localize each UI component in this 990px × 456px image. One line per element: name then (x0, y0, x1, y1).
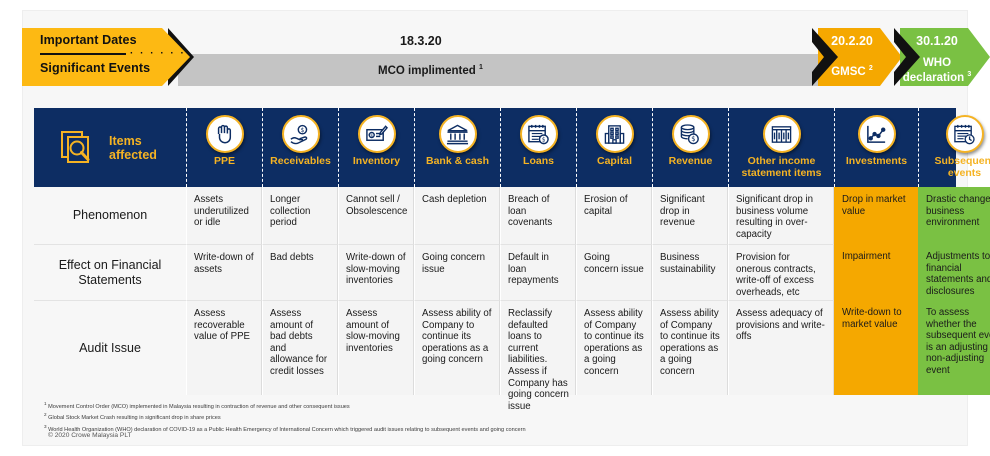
documents-search-icon (56, 126, 100, 170)
column-header-bank-cash-label: Bank & cash (424, 156, 491, 168)
timeline-mco-name-row: MCO implimented 1 (178, 54, 818, 86)
gloves-icon (206, 115, 244, 153)
timeline-mco-footnote-ref: 1 (479, 64, 483, 71)
hand-coin-icon: $ (282, 115, 320, 153)
cell-audit-subsequent-events: To assess whether the subsequent event i… (918, 300, 990, 395)
timeline-legend-label: Important Dates · · · · · · Significant … (22, 28, 190, 86)
column-header-other-income[interactable]: Other income statement items (728, 108, 834, 187)
cell-effect-loans: Default in loan repayments (500, 244, 576, 300)
cell-audit-inventory: Assess amount of slow-moving inventories (338, 300, 414, 395)
cell-phenomenon-investments: Drop in market value (834, 187, 918, 244)
ledger-books-icon (763, 115, 801, 153)
cell-audit-ppe: Assess recoverable value of PPE (186, 300, 262, 395)
timeline-mco-date-row: 18.3.20 (178, 28, 818, 54)
timeline-gmsc-date: 20.2.20 (831, 34, 873, 48)
svg-text:$: $ (301, 128, 305, 134)
cell-effect-other-income: Provision for onerous contracts, write-o… (728, 244, 834, 300)
column-header-revenue[interactable]: $ Revenue (652, 108, 728, 187)
column-header-capital[interactable]: Capital (576, 108, 652, 187)
column-header-loans[interactable]: $ Loans (500, 108, 576, 187)
bank-icon (439, 115, 477, 153)
items-affected-title-line1: Items (109, 134, 157, 148)
building-icon (596, 115, 634, 153)
impact-table: Phenomenon Assets underutilized or idle … (34, 187, 956, 395)
column-header-investments-label: Investments (844, 156, 909, 168)
timeline-gmsc-name: GMSC 2 (831, 63, 873, 78)
timeline-legend-divider (40, 53, 126, 55)
column-header-inventory-label: Inventory (351, 156, 402, 168)
table-row: Audit Issue Assess recoverable value of … (34, 300, 956, 395)
timeline-legend-significant-events: Significant Events (40, 61, 150, 75)
column-header-bank-cash[interactable]: Bank & cash (414, 108, 500, 187)
cell-effect-receivables: Bad debts (262, 244, 338, 300)
timeline-mco-date: 18.3.20 (400, 34, 442, 48)
cell-effect-ppe: Write-down of assets (186, 244, 262, 300)
cell-audit-bank-cash: Assess ability of Company to continue it… (414, 300, 500, 395)
footnote-1: 1 Movement Control Order (MCO) implement… (44, 400, 744, 411)
timeline-who-date: 30.1.20 (916, 34, 958, 48)
column-header-investments[interactable]: Investments (834, 108, 918, 187)
column-header-subsequent-events[interactable]: Subsequent events (918, 108, 990, 187)
cell-phenomenon-ppe: Assets underutilized or idle (186, 187, 262, 244)
items-affected-title-block: Items affected (34, 108, 186, 187)
cell-phenomenon-subsequent-events: Drastic change in business environment (918, 187, 990, 244)
footnote-1-marker: 1 (44, 401, 47, 406)
cell-phenomenon-capital: Erosion of capital (576, 187, 652, 244)
column-header-receivables-label: Receivables (268, 156, 333, 168)
column-header-ppe-label: PPE (212, 156, 237, 168)
column-header-ppe[interactable]: PPE (186, 108, 262, 187)
items-affected-title-line2: affected (109, 148, 157, 162)
footnote-2-text: Global Stock Market Crash resulting in s… (48, 415, 221, 421)
cell-audit-investments: Write-down to market value (834, 300, 918, 395)
column-header-inventory[interactable]: $ Inventory (338, 108, 414, 187)
timeline-gmsc-footnote-ref: 2 (869, 65, 873, 72)
footnote-3-marker: 3 (44, 424, 47, 429)
row-label-audit-issue: Audit Issue (34, 300, 186, 395)
cell-effect-revenue: Business sustainability (652, 244, 728, 300)
cell-effect-investments: Impairment (834, 244, 918, 300)
footnote-2-marker: 2 (44, 412, 47, 417)
timeline-band: 18.3.20 MCO implimented 1 20.2.20 GMSC 2… (22, 28, 968, 86)
cell-audit-receivables: Assess amount of bad debts and allowance… (262, 300, 338, 395)
timeline-who-footnote-ref: 3 (967, 71, 971, 78)
calendar-clock-icon (946, 115, 984, 153)
items-affected-header: Items affected PPE $ Receivables (34, 108, 956, 187)
timeline-legend-important-dates: Important Dates (40, 33, 137, 47)
svg-text:$: $ (542, 137, 546, 143)
footnote-2: 2 Global Stock Market Crash resulting in… (44, 411, 744, 422)
column-header-capital-label: Capital (595, 156, 634, 168)
table-row: Phenomenon Assets underutilized or idle … (34, 187, 956, 244)
line-chart-icon (858, 115, 896, 153)
column-header-receivables[interactable]: $ Receivables (262, 108, 338, 187)
cell-phenomenon-other-income: Significant drop in business volume resu… (728, 187, 834, 244)
cell-phenomenon-inventory: Cannot sell / Obsolescence (338, 187, 414, 244)
column-header-revenue-label: Revenue (667, 156, 715, 168)
timeline-segment-mco[interactable]: 18.3.20 MCO implimented 1 (178, 28, 818, 86)
cell-phenomenon-bank-cash: Cash depletion (414, 187, 500, 244)
cell-phenomenon-loans: Breach of loan covenants (500, 187, 576, 244)
cheque-pen-icon: $ (358, 115, 396, 153)
items-affected-title: Items affected (109, 134, 157, 162)
cell-effect-bank-cash: Going concern issue (414, 244, 500, 300)
coin-stack-icon: $ (672, 115, 710, 153)
cell-audit-capital: Assess ability of Company to continue it… (576, 300, 652, 395)
cell-effect-inventory: Write-down of slow-moving inventories (338, 244, 414, 300)
copyright-notice: © 2020 Crowe Malaysia PLT (48, 432, 132, 439)
cell-audit-other-income: Assess adequacy of provisions and write-… (728, 300, 834, 395)
row-label-phenomenon: Phenomenon (34, 187, 186, 244)
column-header-loans-label: Loans (521, 156, 556, 168)
cell-audit-loans: Reclassify defaulted loans to current li… (500, 300, 576, 395)
calendar-coin-icon: $ (520, 115, 558, 153)
footnote-1-text: Movement Control Order (MCO) implemented… (48, 404, 350, 410)
footnotes: 1 Movement Control Order (MCO) implement… (44, 400, 744, 434)
timeline-mco-name: MCO implimented 1 (378, 64, 483, 77)
footnote-3: 3 World Health Organization (WHO) declar… (44, 423, 744, 434)
table-row: Effect on Financial Statements Write-dow… (34, 244, 956, 300)
slide-canvas: 18.3.20 MCO implimented 1 20.2.20 GMSC 2… (0, 0, 990, 456)
column-header-other-income-label: Other income statement items (729, 156, 834, 179)
svg-text:$: $ (691, 135, 695, 143)
cell-phenomenon-receivables: Longer collection period (262, 187, 338, 244)
cell-effect-capital: Going concern issue (576, 244, 652, 300)
cell-phenomenon-revenue: Significant drop in revenue (652, 187, 728, 244)
cell-effect-subsequent-events: Adjustments to financial statements and … (918, 244, 990, 300)
cell-audit-revenue: Assess ability of Company to continue it… (652, 300, 728, 395)
svg-text:$: $ (370, 132, 373, 138)
column-header-subsequent-events-label: Subsequent events (919, 156, 990, 179)
row-label-effect-on-financial-statements: Effect on Financial Statements (34, 244, 186, 300)
